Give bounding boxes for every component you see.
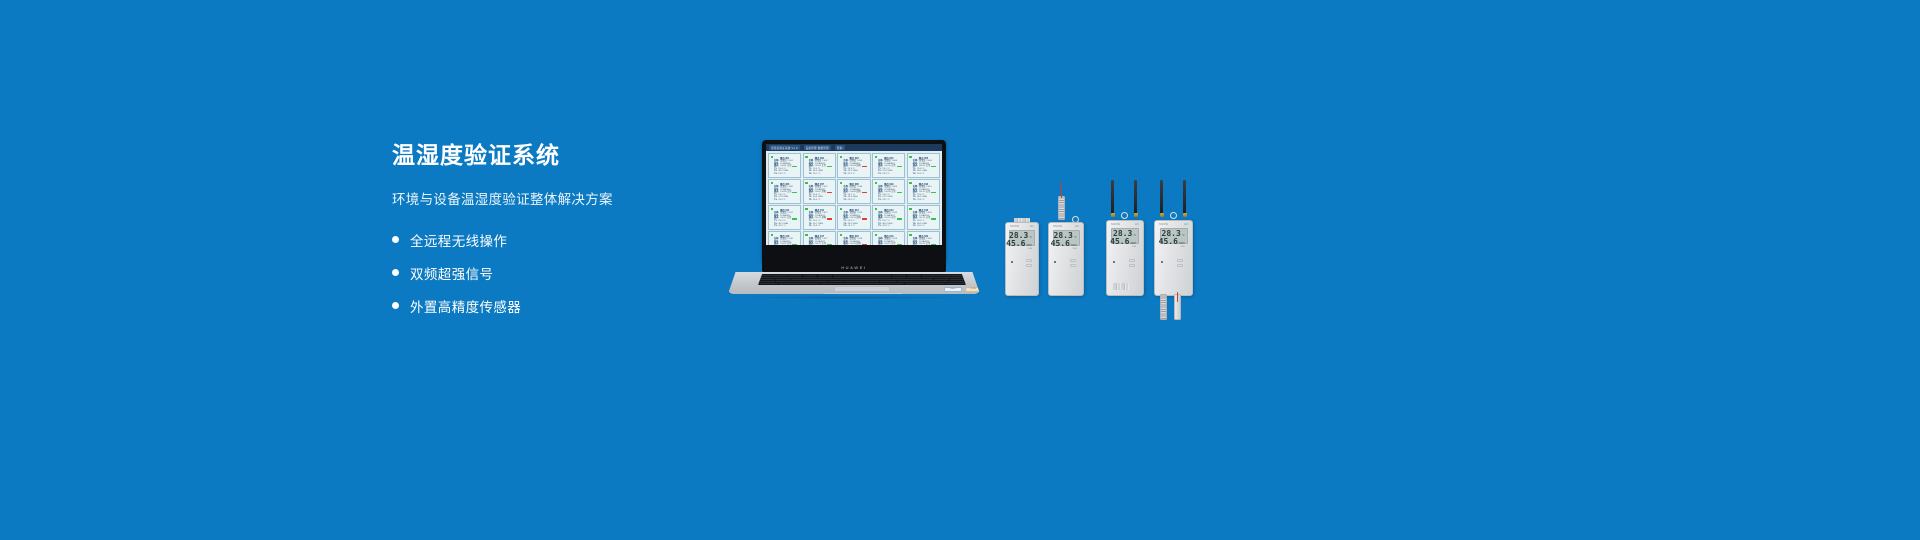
row-value: 23.8 °C (917, 199, 924, 202)
lcd-humidity-line: 45.6 %RH (1056, 240, 1077, 248)
sensor-row-t3: T3:23.5 °C (774, 225, 799, 228)
device-led-indicator (1161, 261, 1163, 263)
device-hanging-ring (1121, 212, 1128, 219)
device-logger-wireless-a: SNOW H3 28.3 ℃ 45.6 %RH LOG (1104, 180, 1146, 296)
feature-list: 全远程无线操作双频超强信号外置高精度传感器 (392, 230, 732, 316)
keyboard-key[interactable] (840, 283, 884, 284)
lcd-humidity-value: 45.6 (1110, 238, 1129, 246)
sensor-status-badge (897, 244, 902, 245)
sensor-card-rows: 名称:温湿度 T-002编号:1C0A0802通道:CH-02 正常T1:23.… (805, 160, 834, 176)
sensor-row-t3: T3:23.9 °C (878, 225, 903, 228)
sensor-status-dot-icon (805, 234, 808, 237)
sensor-card-rows: 名称:温湿度 T-019编号:1C0A0819通道:CH-19 正常T1:23.… (874, 238, 903, 245)
device-label-row: SNOW H1 (1006, 223, 1038, 228)
sensor-card-rows: 名称:温湿度 T-003编号:1C0A0803通道:CH-03 超限T1:25.… (839, 160, 868, 176)
device-brand: SNOW (1111, 223, 1120, 226)
device-antenna-base-right (1183, 213, 1187, 217)
row-value: CH-16 正常 (780, 243, 791, 245)
sensor-card[interactable]: 测点 016名称:温湿度 T-016编号:1C0A0816通道:CH-16 正常… (768, 231, 801, 245)
sensor-row-t3: T3:23.7 °C (809, 173, 834, 176)
device-button-up[interactable] (1070, 259, 1076, 262)
sensor-row-t3: T3:23.4 °C (774, 199, 799, 202)
device-model: H2 (1075, 225, 1079, 228)
row-key: T3: (774, 199, 777, 202)
device-lcd-display: 28.3 ℃ 45.6 %RH LOG (1009, 230, 1035, 246)
device-buttons[interactable] (1177, 259, 1183, 267)
sensor-status-badge (792, 218, 797, 220)
row-value: 25.1 °C (848, 225, 855, 228)
row-key: T3: (913, 225, 916, 228)
device-button-up[interactable] (1177, 259, 1183, 262)
row-key: 通道: (774, 243, 779, 245)
sensor-status-dot-icon (840, 182, 843, 185)
lcd-temperature-unit: ℃ (1074, 236, 1077, 240)
sensor-card-title: 测点 004 (884, 156, 893, 160)
device-antenna-base-left (1160, 213, 1164, 217)
feature-item: 双频超强信号 (392, 263, 732, 283)
sensor-status-badge (827, 218, 832, 220)
sensor-status-badge (862, 244, 867, 245)
device-hanging-ring (1170, 212, 1177, 219)
device-logger-probe: SNOW H2 28.3 ℃ 45.6 %RH LOG (1048, 196, 1084, 296)
device-led-indicator (1011, 261, 1013, 263)
sensor-status-dot-icon (771, 182, 774, 185)
device-external-probe-left (1160, 294, 1167, 320)
device-brand: SNOW (1159, 223, 1168, 226)
row-value: 23.7 °C (813, 173, 820, 176)
sensor-status-dot-icon (805, 182, 808, 185)
page-title: 温湿度验证系统 (392, 142, 732, 170)
device-probe-wire (1177, 292, 1178, 302)
sensor-card-grid: 测点 001名称:温湿度 T-001编号:1C0A0801通道:CH-01 正常… (766, 151, 942, 245)
bullet-dot-icon (392, 302, 399, 309)
device-antenna-base-right (1134, 213, 1138, 217)
device-lcd-display: 28.3 ℃ 45.6 %RH LOG (1160, 228, 1188, 244)
device-button-up[interactable] (1129, 259, 1135, 262)
sensor-card-title: 测点 001 (780, 156, 789, 160)
device-lcd-display: 28.3 ℃ 45.6 %RH LOG (1053, 230, 1080, 246)
sensor-card[interactable]: 测点 009名称:温湿度 T-009编号:1C0A0809通道:CH-09 正常… (872, 179, 905, 204)
row-key: 通道: (878, 243, 883, 245)
sensor-status-badge (931, 218, 936, 220)
sensor-card-rows: 名称:温湿度 T-017编号:1C0A0817通道:CH-17 正常T1:23.… (805, 238, 834, 245)
device-antenna-left (1160, 180, 1163, 214)
sensor-row-t3: T3:25.1 °C (843, 225, 868, 228)
row-value: 23.6 °C (778, 173, 785, 176)
row-value: CH-17 正常 (815, 243, 826, 245)
lcd-footer: LOG (1056, 248, 1077, 250)
keyboard-key[interactable] (759, 283, 779, 284)
sensor-status-badge (862, 218, 867, 220)
sensor-card[interactable]: 测点 014名称:温湿度 T-014编号:1C0A0814通道:CH-14 正常… (872, 205, 905, 230)
device-button-down[interactable] (1177, 264, 1183, 267)
lcd-humidity-line: 45.6 %RH (1114, 238, 1136, 246)
lcd-temperature-unit: ℃ (1133, 234, 1136, 238)
row-value: CH-18 超限 (850, 243, 861, 245)
sensor-card-rows: 名称:温湿度 T-013编号:1C0A0813通道:CH-13 超限T1:25.… (839, 212, 868, 228)
hero-text-block: 温湿度验证系统 环境与设备温湿度验证整体解决方案 全远程无线操作双频超强信号外置… (392, 142, 732, 329)
row-key: T3: (843, 199, 846, 202)
sensor-card[interactable]: 测点 005名称:温湿度 T-005编号:1C0A0805通道:CH-05 正常… (907, 153, 940, 178)
sensor-card-rows: 名称:温湿度 T-010编号:1C0A0810通道:CH-10 正常T1:23.… (909, 186, 938, 202)
feature-label: 双频超强信号 (410, 263, 493, 283)
keyboard-key[interactable] (905, 283, 925, 284)
row-value: 23.3 °C (882, 173, 889, 176)
sensor-card-title: 测点 003 (849, 156, 858, 160)
device-buttons[interactable] (1129, 259, 1135, 267)
feature-label: 外置高精度传感器 (410, 296, 521, 316)
keyboard-key[interactable] (946, 283, 966, 284)
sensor-card[interactable]: 测点 011名称:温湿度 T-011编号:1C0A0811通道:CH-11 正常… (768, 205, 801, 230)
sensor-card[interactable]: 测点 007名称:温湿度 T-007编号:1C0A0807通道:CH-07 超限… (803, 179, 836, 204)
feature-item: 全远程无线操作 (392, 230, 732, 250)
row-value: 23.9 °C (882, 225, 889, 228)
lcd-humidity-value: 45.6 (1051, 240, 1070, 248)
keyboard-key[interactable] (820, 283, 840, 284)
device-probe-sensor (1058, 196, 1065, 220)
sensor-card[interactable]: 测点 013名称:温湿度 T-013编号:1C0A0813通道:CH-13 超限… (837, 205, 870, 230)
sensor-row-t3: T3:23.3 °C (878, 173, 903, 176)
device-antenna-left (1111, 180, 1114, 214)
sensor-row-t3: T3:26.0 °C (809, 199, 834, 202)
device-vent (1113, 283, 1129, 290)
keyboard-key[interactable] (884, 283, 904, 284)
sensor-card-rows: 名称:温湿度 T-007编号:1C0A0807通道:CH-07 超限T1:26.… (805, 186, 834, 202)
sensor-card-title: 测点 009 (884, 182, 893, 186)
device-buttons[interactable] (1070, 259, 1076, 267)
device-led-indicator (1054, 261, 1056, 263)
sensor-card-title: 测点 010 (919, 182, 928, 186)
device-brand: SNOW (1053, 225, 1062, 228)
row-key: 通道: (809, 243, 814, 245)
sensor-status-dot-icon (875, 156, 878, 159)
sensor-status-badge (792, 244, 797, 245)
laptop-trackpad[interactable] (834, 286, 890, 292)
device-logger-basic: SNOW H1 28.3 ℃ 45.6 %RH LOG (1005, 218, 1039, 296)
device-led-indicator (1113, 261, 1115, 263)
sensor-card-title: 测点 005 (919, 156, 928, 160)
feature-label: 全远程无线操作 (410, 230, 507, 250)
lcd-humidity-unit: %RH (1071, 244, 1077, 248)
lcd-humidity-value: 45.6 (1159, 238, 1178, 246)
sensor-row-t3: T3:24.0 °C (913, 225, 938, 228)
device-label-row: SNOW H2 (1049, 223, 1083, 228)
sensor-card[interactable]: 测点 010名称:温湿度 T-010编号:1C0A0810通道:CH-10 正常… (907, 179, 940, 204)
sensor-card[interactable]: 测点 002名称:温湿度 T-002编号:1C0A0802通道:CH-02 正常… (803, 153, 836, 178)
row-key: T3: (913, 199, 916, 202)
sensor-row-channel: 通道:CH-19 正常 (878, 243, 903, 245)
sensor-status-dot-icon (840, 234, 843, 237)
device-body: SNOW H3 28.3 ℃ 45.6 %RH LOG (1154, 220, 1193, 296)
lcd-humidity-unit: %RH (1130, 242, 1136, 246)
keyboard-key[interactable] (925, 283, 945, 284)
sensor-status-dot-icon (909, 234, 912, 237)
sensor-status-dot-icon (875, 182, 878, 185)
row-key: 通道: (843, 243, 848, 245)
sensor-card-rows: 名称:温湿度 T-009编号:1C0A0809通道:CH-09 正常T1:23.… (874, 186, 903, 202)
sensor-status-dot-icon (805, 156, 808, 159)
sensor-card-rows: 名称:温湿度 T-004编号:1C0A0804通道:CH-04 正常T1:23.… (874, 160, 903, 176)
device-brand: SNOW (1010, 225, 1019, 228)
sensor-card-rows: 名称:温湿度 T-018编号:1C0A0818通道:CH-18 超限T1:26.… (839, 238, 868, 245)
keyboard-row (759, 283, 966, 284)
row-key: T3: (809, 173, 812, 176)
sensor-row-t3: T3:25.5 °C (843, 199, 868, 202)
sensor-row-channel: 通道:CH-17 正常 (809, 243, 834, 245)
sensor-card[interactable]: 测点 008名称:温湿度 T-008编号:1C0A0808通道:CH-08 超限… (837, 179, 870, 204)
bullet-dot-icon (392, 269, 399, 276)
app-topbar: 温湿度验证系统 V1.0设备管理 数据管理帮助 (766, 144, 942, 151)
sensor-status-dot-icon (771, 208, 774, 211)
device-button-down[interactable] (1129, 264, 1135, 267)
keyboard-key[interactable] (799, 283, 819, 284)
core-sticker-label: CORE (970, 288, 976, 290)
row-key: 通道: (913, 243, 918, 245)
device-label-row: SNOW H3 (1107, 221, 1143, 226)
lcd-humidity-unit: %RH (1026, 244, 1032, 248)
sensor-row-channel: 通道:CH-20 正常 (913, 243, 938, 245)
lcd-temperature-unit: ℃ (1029, 236, 1032, 240)
sensor-row-t3: T3:23.8 °C (913, 199, 938, 202)
sensor-status-dot-icon (875, 234, 878, 237)
sensor-card-rows: 名称:温湿度 T-016编号:1C0A0816通道:CH-16 正常T1:23.… (770, 238, 799, 245)
lcd-footer: LOG (1114, 246, 1136, 248)
row-key: T3: (878, 173, 881, 176)
device-model: H1 (1030, 225, 1034, 228)
device-button-up[interactable] (1026, 259, 1032, 262)
sensor-card-rows: 名称:温湿度 T-001编号:1C0A0801通道:CH-01 正常T1:23.… (770, 160, 799, 176)
laptop-shadow (734, 296, 974, 299)
sensor-card-title: 测点 008 (849, 182, 858, 186)
device-model: H3 (1184, 223, 1188, 226)
row-value: CH-20 正常 (919, 243, 930, 245)
sensor-card[interactable]: 测点 020名称:温湿度 T-020编号:1C0A0820通道:CH-20 正常… (907, 231, 940, 245)
laptop-keyboard[interactable] (758, 274, 966, 285)
device-antenna-right (1183, 180, 1186, 214)
sensor-card-title: 测点 002 (815, 156, 824, 160)
row-value: 25.5 °C (848, 199, 855, 202)
laptop-base-body: Intel CORE (728, 272, 980, 294)
sensor-row-t3: T3:23.9 °C (913, 173, 938, 176)
sensor-card-rows: 名称:温湿度 T-020编号:1C0A0820通道:CH-20 正常T1:23.… (909, 238, 938, 245)
sensor-card[interactable]: 测点 004名称:温湿度 T-004编号:1C0A0804通道:CH-04 正常… (872, 153, 905, 178)
sensor-card[interactable]: 测点 018名称:温湿度 T-018编号:1C0A0818通道:CH-18 超限… (837, 231, 870, 245)
bullet-dot-icon (392, 236, 399, 243)
laptop-lid: 温湿度验证系统 V1.0设备管理 数据管理帮助 测点 001名称:温湿度 T-0… (762, 140, 946, 262)
sensor-card[interactable]: 测点 015名称:温湿度 T-015编号:1C0A0815通道:CH-15 正常… (907, 205, 940, 230)
sensor-card[interactable]: 测点 001名称:温湿度 T-001编号:1C0A0801通道:CH-01 正常… (768, 153, 801, 178)
device-body: SNOW H1 28.3 ℃ 45.6 %RH LOG (1005, 222, 1039, 296)
sensor-card[interactable]: 测点 006名称:温湿度 T-006编号:1C0A0806通道:CH-06 正常… (768, 179, 801, 204)
sensor-status-dot-icon (875, 208, 878, 211)
device-antenna-right (1134, 180, 1137, 214)
sensor-status-dot-icon (909, 156, 912, 159)
topbar-menu-item[interactable]: 帮助 (835, 145, 845, 150)
laptop-product-image: 温湿度验证系统 V1.0设备管理 数据管理帮助 测点 001名称:温湿度 T-0… (720, 140, 988, 300)
sensor-card[interactable]: 测点 003名称:温湿度 T-003编号:1C0A0803通道:CH-03 超限… (837, 153, 870, 178)
row-value: 26.0 °C (813, 199, 820, 202)
sensor-status-dot-icon (771, 234, 774, 237)
device-button-down[interactable] (1026, 264, 1032, 267)
sensor-card-title: 测点 007 (815, 182, 824, 186)
device-logger-wireless-b: SNOW H3 28.3 ℃ 45.6 %RH LOG (1152, 180, 1196, 320)
device-buttons[interactable] (1026, 259, 1032, 267)
row-value: CH-19 正常 (884, 243, 895, 245)
sensor-card[interactable]: 测点 012名称:温湿度 T-012编号:1C0A0812通道:CH-12 超限… (803, 205, 836, 230)
sensor-card-rows: 名称:温湿度 T-012编号:1C0A0812通道:CH-12 超限T1:26.… (805, 212, 834, 228)
sensor-row-t3: T3:23.6 °C (774, 173, 799, 176)
row-value: 25.2 °C (848, 173, 855, 176)
device-label-row: SNOW H3 (1155, 221, 1192, 226)
sensor-row-t3: T3:25.2 °C (843, 173, 868, 176)
lcd-humidity-line: 45.6 %RH (1163, 238, 1185, 246)
row-value: 23.9 °C (917, 173, 924, 176)
sensor-status-dot-icon (840, 156, 843, 159)
topbar-menu-item[interactable]: 设备管理 数据管理 (804, 145, 831, 150)
row-key: T3: (809, 199, 812, 202)
lcd-footer: LOG (1012, 248, 1032, 250)
sensor-card-rows: 名称:温湿度 T-008编号:1C0A0808通道:CH-08 超限T1:25.… (839, 186, 868, 202)
device-antenna-base-left (1111, 213, 1115, 217)
lcd-footer: LOG (1163, 246, 1185, 248)
row-key: T3: (878, 225, 881, 228)
sensor-status-badge (931, 244, 936, 245)
row-key: T3: (843, 225, 846, 228)
sensor-card-title: 测点 006 (780, 182, 789, 186)
sensor-status-dot-icon (909, 182, 912, 185)
lcd-humidity-value: 45.6 (1006, 240, 1025, 248)
row-key: T3: (774, 225, 777, 228)
row-value: 23.5 °C (778, 225, 785, 228)
row-key: T3: (843, 173, 846, 176)
row-key: T3: (913, 173, 916, 176)
sensor-status-dot-icon (909, 208, 912, 211)
sensor-row-channel: 通道:CH-18 超限 (843, 243, 868, 245)
sensor-card-rows: 名称:温湿度 T-005编号:1C0A0805通道:CH-05 正常T1:23.… (909, 160, 938, 176)
sensor-card-rows: 名称:温湿度 T-011编号:1C0A0811通道:CH-11 正常T1:23.… (770, 212, 799, 228)
laptop-brand-logo: HUAWEI (841, 265, 867, 270)
row-value: 23.4 °C (778, 199, 785, 202)
row-value: 24.0 °C (917, 225, 924, 228)
laptop-screen: 温湿度验证系统 V1.0设备管理 数据管理帮助 测点 001名称:温湿度 T-0… (766, 144, 942, 245)
row-key: T3: (809, 225, 812, 228)
sensor-card[interactable]: 测点 017名称:温湿度 T-017编号:1C0A0817通道:CH-17 正常… (803, 231, 836, 245)
device-body: SNOW H3 28.3 ℃ 45.6 %RH LOG (1106, 220, 1144, 296)
lcd-temperature-unit: ℃ (1182, 234, 1185, 238)
sensor-status-dot-icon (840, 208, 843, 211)
topbar-menu-item[interactable]: 温湿度验证系统 V1.0 (769, 145, 800, 150)
sensor-status-badge (827, 244, 832, 245)
page-subtitle: 环境与设备温湿度验证整体解决方案 (392, 188, 732, 208)
row-value: 23.1 °C (882, 199, 889, 202)
sensor-status-dot-icon (771, 156, 774, 159)
sensor-row-t3: T3:25.8 °C (809, 225, 834, 228)
row-key: T3: (878, 199, 881, 202)
intel-sticker-label: Intel (950, 288, 955, 290)
device-button-down[interactable] (1070, 264, 1076, 267)
lcd-humidity-line: 45.6 %RH (1012, 240, 1032, 248)
sensor-status-dot-icon (805, 208, 808, 211)
lcd-humidity-unit: %RH (1179, 242, 1185, 246)
sensor-row-channel: 通道:CH-16 正常 (774, 243, 799, 245)
row-key: T3: (774, 173, 777, 176)
device-model: H3 (1135, 223, 1139, 226)
sensor-status-badge (897, 218, 902, 220)
sensor-card-rows: 名称:温湿度 T-015编号:1C0A0815通道:CH-15 正常T1:23.… (909, 212, 938, 228)
feature-item: 外置高精度传感器 (392, 296, 732, 316)
device-body: SNOW H2 28.3 ℃ 45.6 %RH LOG (1048, 222, 1084, 296)
sensor-card-rows: 名称:温湿度 T-014编号:1C0A0814通道:CH-14 正常T1:23.… (874, 212, 903, 228)
sensor-card-rows: 名称:温湿度 T-006编号:1C0A0806通道:CH-06 正常T1:23.… (770, 186, 799, 202)
device-lcd-display: 28.3 ℃ 45.6 %RH LOG (1111, 228, 1139, 244)
intel-sticker: Intel (944, 287, 962, 292)
row-value: 25.8 °C (813, 225, 820, 228)
sensor-card[interactable]: 测点 019名称:温湿度 T-019编号:1C0A0819通道:CH-19 正常… (872, 231, 905, 245)
device-probe-wire (1061, 182, 1062, 198)
core-sticker: CORE (965, 287, 981, 292)
sensor-row-t3: T3:23.1 °C (878, 199, 903, 202)
keyboard-key[interactable] (779, 283, 799, 284)
laptop-base: Intel CORE (720, 272, 988, 297)
